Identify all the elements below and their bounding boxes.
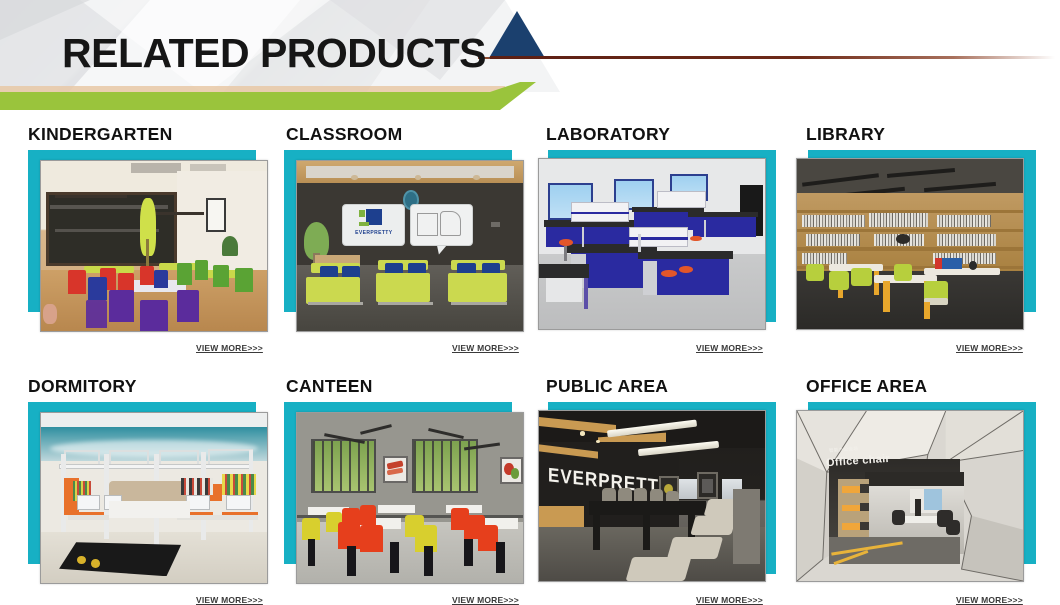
photo-canteen bbox=[297, 413, 523, 583]
card-photo-frame bbox=[40, 412, 268, 584]
card-photo-frame bbox=[538, 158, 766, 330]
card-image-stack bbox=[14, 150, 272, 332]
view-more-link-office-area[interactable]: VIEW MORE>>> bbox=[956, 595, 1023, 605]
card-title-laboratory: LABORATORY bbox=[546, 124, 670, 145]
card-title-library: LIBRARY bbox=[806, 124, 885, 145]
view-more-link-canteen[interactable]: VIEW MORE>>> bbox=[452, 595, 519, 605]
photo-classroom: EVERPRETTY bbox=[297, 161, 523, 331]
photo-laboratory bbox=[539, 159, 765, 329]
view-more-link-kindergarten[interactable]: VIEW MORE>>> bbox=[196, 343, 263, 353]
view-more-link-library[interactable]: VIEW MORE>>> bbox=[956, 343, 1023, 353]
card-title-public-area: PUBLIC AREA bbox=[546, 376, 668, 397]
card-title-office-area: OFFICE AREA bbox=[806, 376, 927, 397]
view-more-link-dormitory[interactable]: VIEW MORE>>> bbox=[196, 595, 263, 605]
card-photo-frame: 智能办公会场 Office chair bbox=[796, 410, 1024, 582]
photo-library bbox=[797, 159, 1023, 329]
card-title-canteen: CANTEEN bbox=[286, 376, 373, 397]
view-more-link-laboratory[interactable]: VIEW MORE>>> bbox=[696, 343, 763, 353]
card-image-stack bbox=[532, 150, 790, 332]
card-image-stack bbox=[272, 402, 530, 584]
photo-office-area: 智能办公会场 Office chair bbox=[797, 411, 1023, 581]
view-more-link-public-area[interactable]: VIEW MORE>>> bbox=[696, 595, 763, 605]
card-image-stack: 智能办公会场 Office chair bbox=[792, 402, 1050, 584]
card-photo-frame bbox=[296, 412, 524, 584]
card-image-stack bbox=[792, 150, 1050, 332]
banner-peach-stripe bbox=[0, 86, 505, 92]
banner-horizontal-rule bbox=[490, 56, 1055, 59]
card-title-kindergarten: KINDERGARTEN bbox=[28, 124, 173, 145]
photo-dormitory bbox=[41, 413, 267, 583]
card-image-stack: EVERPRETTY bbox=[272, 150, 530, 332]
page-header-banner: RELATED PRODUCTS bbox=[0, 0, 1060, 110]
card-photo-frame bbox=[40, 160, 268, 332]
photo-public-area: EVERPRETTY bbox=[539, 411, 765, 581]
card-image-stack: EVERPRETTY bbox=[532, 402, 790, 584]
view-more-link-classroom[interactable]: VIEW MORE>>> bbox=[452, 343, 519, 353]
card-title-classroom: CLASSROOM bbox=[286, 124, 402, 145]
banner-blue-triangle-icon bbox=[489, 11, 545, 58]
card-title-dormitory: DORMITORY bbox=[28, 376, 137, 397]
card-photo-frame: EVERPRETTY bbox=[296, 160, 524, 332]
card-image-stack bbox=[14, 402, 272, 584]
photo-kindergarten bbox=[41, 161, 267, 331]
page-title: RELATED PRODUCTS bbox=[62, 30, 486, 77]
card-photo-frame: EVERPRETTY bbox=[538, 410, 766, 582]
card-photo-frame bbox=[796, 158, 1024, 330]
